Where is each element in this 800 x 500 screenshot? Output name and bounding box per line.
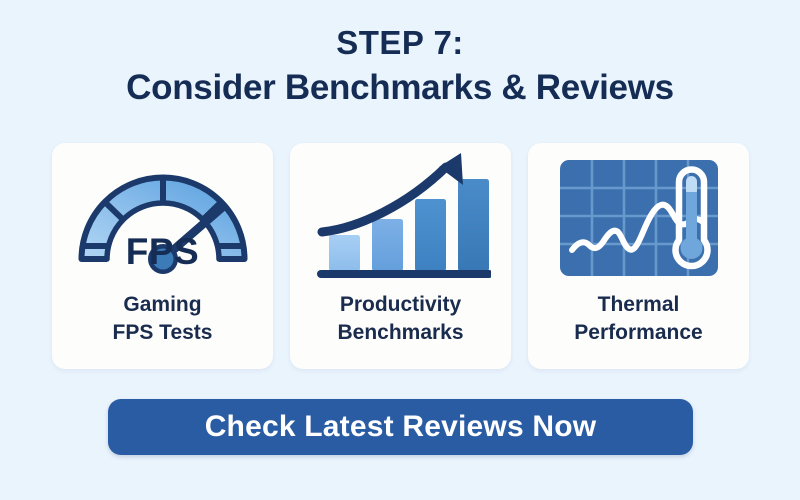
card-label-line-2: Benchmarks	[278, 319, 523, 347]
bar-chart-baseline	[317, 270, 491, 278]
page-heading: STEP 7: Consider Benchmarks & Reviews	[0, 24, 800, 114]
card-productivity-benchmarks[interactable]: Productivity Benchmarks	[290, 143, 511, 369]
thermal-svg	[558, 156, 720, 284]
bar-chart-svg	[311, 149, 491, 289]
card-label-line-1: Productivity	[278, 291, 523, 319]
bar-chart-growth-arrow-icon	[311, 149, 491, 289]
speedometer-gauge-icon: FPS	[78, 155, 248, 287]
card-label-line-1: Gaming	[40, 291, 285, 319]
card-label-thermal-performance: Thermal Performance	[516, 291, 761, 347]
card-label-line-1: Thermal	[516, 291, 761, 319]
card-artwork	[290, 143, 511, 293]
trend-arrow-head	[439, 153, 463, 185]
card-label-gaming-fps-tests: Gaming FPS Tests	[40, 291, 285, 347]
step-label: STEP 7:	[0, 24, 800, 63]
card-thermal-performance[interactable]: Thermal Performance	[528, 143, 749, 369]
card-artwork: FPS	[52, 143, 273, 293]
card-label-line-2: Performance	[516, 319, 761, 347]
card-artwork	[528, 143, 749, 293]
bar-1	[329, 235, 360, 271]
bar-4	[458, 179, 489, 271]
card-gaming-fps-tests[interactable]: FPS Gaming FPS Tests	[52, 143, 273, 369]
card-label-productivity-benchmarks: Productivity Benchmarks	[278, 291, 523, 347]
thermometer-bulb-fill	[680, 237, 702, 259]
page-title: Consider Benchmarks & Reviews	[0, 63, 800, 114]
thermometer-line-chart-icon	[558, 156, 720, 284]
gauge-value-label: FPS	[78, 231, 248, 273]
feature-card-list: FPS Gaming FPS Tests	[52, 143, 749, 369]
infographic-page: STEP 7: Consider Benchmarks & Reviews	[0, 0, 800, 500]
thermometer-stem-fill	[686, 192, 697, 244]
bar-3	[415, 199, 446, 271]
bar-2	[372, 219, 403, 271]
check-latest-reviews-button[interactable]: Check Latest Reviews Now	[108, 399, 693, 455]
card-label-line-2: FPS Tests	[40, 319, 285, 347]
